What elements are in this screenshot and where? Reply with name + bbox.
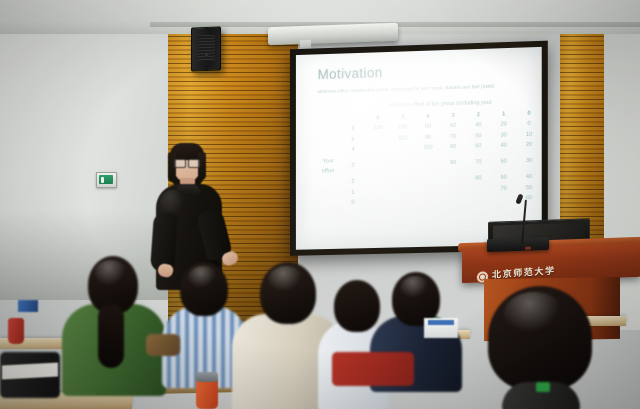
row-axis-label: Your effort [316,156,341,178]
speaker-driver-icon [204,52,209,57]
payoff-row-label: 0 [340,198,365,209]
payoff-cell: 50 [516,182,541,193]
payoff-row-label: 5 [340,134,365,145]
payoff-cell: 60 [466,141,491,152]
payoff-cell [415,174,440,185]
wall-speaker-icon [191,26,221,71]
payoff-row-label: 3 [340,155,365,177]
microphone-led-icon [525,247,531,250]
payoff-cell [390,175,415,186]
payoff-cell: 90 [415,132,440,143]
payoff-row-label: 1 [340,187,365,198]
audience-member-longhair-front [478,286,600,409]
payoff-cell [365,186,390,197]
payoff-cell: 30 [491,130,516,141]
payoff-matrix-table: 6 5 4 3 2 1 0 61201008060402005110907050… [316,108,542,210]
payoff-cell [365,144,390,155]
payoff-cell: 50 [466,131,491,142]
payoff-matrix-body: 6120100806040200511090705030104100806040… [316,118,542,209]
payoff-cell: 40 [466,120,491,131]
orange-water-bottle [196,378,218,409]
col-header-5: 1 [491,109,516,120]
payoff-cell [365,155,390,177]
hair-highlight [94,260,128,288]
payoff-cell [390,154,415,176]
col-header-0: 6 [365,112,390,123]
lanyard-icon [536,382,550,392]
row-axis-spacer [316,188,341,199]
col-header-3: 3 [441,110,466,121]
payoff-row-label: 6 [340,124,365,135]
row-label-corner [340,113,365,124]
payoff-cell: 20 [491,119,516,130]
payoff-cell [415,185,440,196]
bottle-cap-icon [196,372,218,382]
payoff-cell: 70 [466,152,491,174]
payoff-row-label: 4 [340,145,365,156]
ponytail [98,304,124,368]
slide-title: Motivation [318,61,534,81]
payoff-cell [466,194,491,205]
payoff-cell: 80 [415,121,440,132]
payoff-cell [491,194,516,205]
payoff-cell [365,197,390,208]
microphone-base [487,237,549,252]
payoff-cell: 100 [390,122,415,133]
payoff-cell: 50 [491,151,516,173]
payoff-cell [390,186,415,197]
payoff-cell: 80 [466,173,491,184]
payoff-cell: 0 [516,118,541,129]
payoff-cell [441,184,466,195]
payoff-cell: 60 [491,172,516,183]
payoff-cell [365,133,390,144]
document-header-band [428,320,454,325]
handbag [146,334,180,356]
corner-cell [316,114,341,125]
payoff-cell: 70 [491,183,516,194]
row-axis-spacer [316,177,341,188]
payoff-cell [415,196,440,207]
red-thermos [8,318,24,344]
paper-sheet [2,363,58,380]
payoff-cell: 70 [441,131,466,142]
payoff-cell: 40 [516,172,541,183]
payoff-cell: 20 [516,140,541,151]
row-axis-spacer [316,124,341,135]
payoff-cell [441,174,466,185]
col-header-4: 2 [466,109,491,120]
hair-highlight [268,266,304,294]
payoff-cell: 30 [516,150,541,172]
row-axis-spacer [316,145,341,156]
hair-highlight [188,266,218,290]
blue-notebook [18,300,38,312]
payoff-cell: 120 [365,123,390,134]
payoff-cell [415,153,440,175]
payoff-cell: 90 [441,153,466,175]
payoff-cell: 100 [415,143,440,154]
payoff-cell [466,184,491,195]
hair-highlight [504,292,564,336]
payoff-cell: 60 [441,121,466,132]
payoff-cell: 80 [441,142,466,153]
payoff-cell [365,176,390,187]
chair-back-red [332,352,414,386]
hair-highlight [400,276,430,300]
audience-member-green-top [60,256,170,386]
payoff-cell: 10 [516,129,541,140]
col-header-2: 4 [415,111,440,122]
payoff-cell [390,143,415,154]
projection-screen: Motivation Minimum-effort coordination g… [296,47,542,250]
row-axis-spacer [316,198,341,209]
glasses-icon [174,159,200,166]
payoff-cell [390,196,415,207]
lecture-hall-photo: Motivation Minimum-effort coordination g… [0,0,640,409]
payoff-row-label: 2 [340,176,365,187]
row-axis-spacer [316,135,341,146]
slide-subtitle: Minimum-effort coordination game, introd… [318,82,534,94]
payoff-cell: 110 [390,133,415,144]
payoff-cell [441,195,466,206]
col-header-6: 0 [516,108,541,119]
col-header-1: 5 [390,112,415,123]
payoff-cell: 40 [491,141,516,152]
slide-content: Motivation Minimum-effort coordination g… [296,47,542,250]
emergency-exit-sign-icon [96,172,117,188]
projector-screen-roller-icon [268,23,398,46]
